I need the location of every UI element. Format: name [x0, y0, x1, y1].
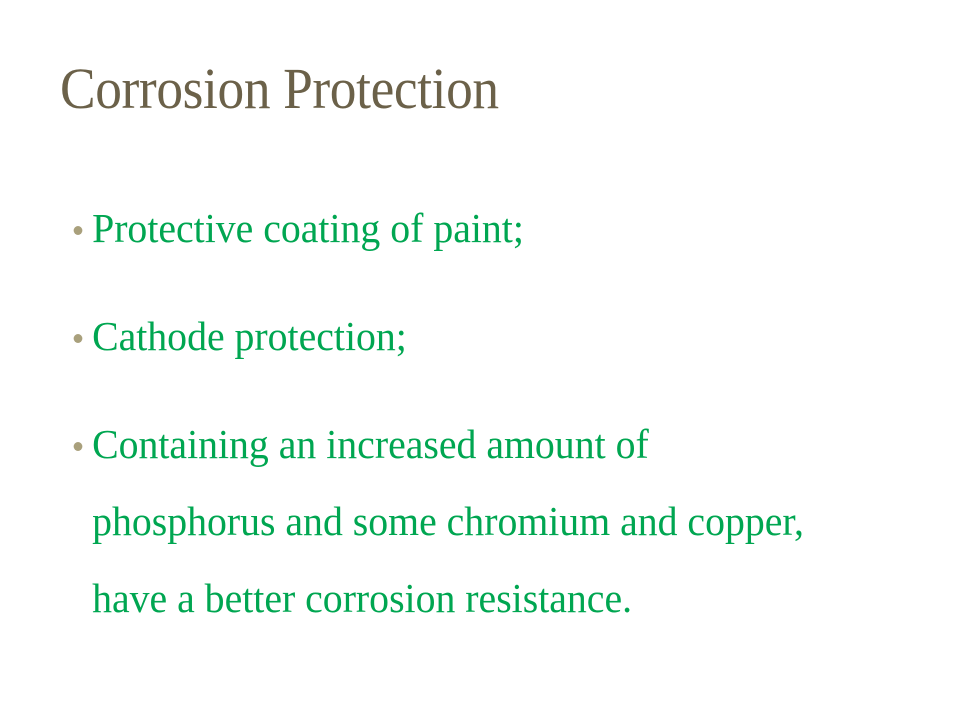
- list-item-text: Cathode protection;: [92, 298, 877, 375]
- list-item-line: Cathode protection;: [92, 298, 877, 375]
- page-title: Corrosion Protection: [60, 58, 833, 120]
- bullet-list: Protective coating of paint; Cathode pro…: [62, 190, 902, 637]
- list-item-line: have a better corrosion resistance.: [92, 560, 877, 637]
- presentation-slide: Corrosion Protection Protective coating …: [0, 0, 960, 720]
- list-item-text: Containing an increased amount of phosph…: [92, 406, 877, 637]
- bullet-dot-icon: [74, 226, 83, 235]
- list-item[interactable]: Containing an increased amount of phosph…: [62, 406, 877, 637]
- list-item-text: Protective coating of paint;: [92, 190, 877, 267]
- list-item-line: Containing an increased amount of: [92, 406, 877, 483]
- list-item[interactable]: Protective coating of paint;: [62, 190, 877, 267]
- list-item-line: phosphorus and some chromium and copper,: [92, 483, 877, 560]
- bullet-dot-icon: [74, 442, 83, 451]
- bullet-dot-icon: [74, 334, 83, 343]
- list-item[interactable]: Cathode protection;: [62, 298, 877, 375]
- list-item-line: Protective coating of paint;: [92, 190, 877, 267]
